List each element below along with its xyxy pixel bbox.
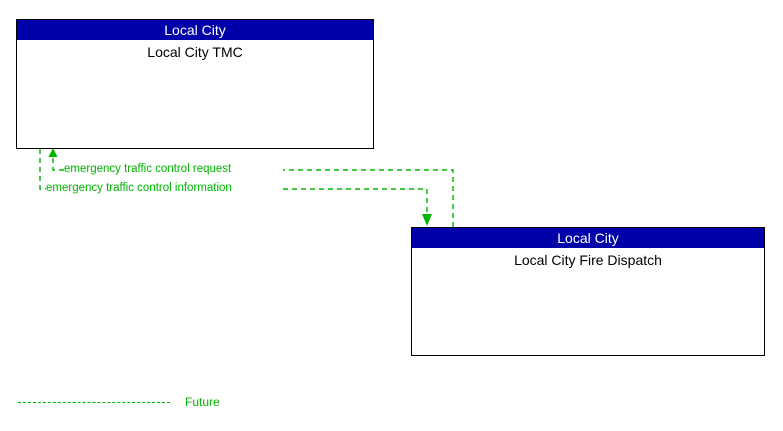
entity-name-label: Local City TMC: [17, 40, 373, 60]
legend: Future: [0, 394, 783, 414]
arrowhead-information-down: [422, 214, 432, 226]
arrowhead-request-up: [49, 148, 58, 157]
entity-box-local-city-fire-dispatch[interactable]: Local City Local City Fire Dispatch: [411, 227, 765, 356]
flow-path-information: [283, 189, 427, 214]
entity-stakeholder-header: Local City: [412, 228, 764, 248]
flow-label-emergency-traffic-control-information[interactable]: emergency traffic control information: [46, 182, 232, 194]
flow-path-request-tail: [53, 155, 64, 170]
diagram-canvas: Local City Local City TMC Local City Loc…: [0, 0, 783, 431]
legend-dashed-line-icon: [18, 402, 170, 403]
flow-label-emergency-traffic-control-request[interactable]: emergency traffic control request: [64, 163, 231, 175]
entity-box-local-city-tmc[interactable]: Local City Local City TMC: [16, 19, 374, 149]
entity-name-label: Local City Fire Dispatch: [412, 248, 764, 268]
entity-stakeholder-header: Local City: [17, 20, 373, 40]
legend-label-future: Future: [185, 395, 220, 409]
